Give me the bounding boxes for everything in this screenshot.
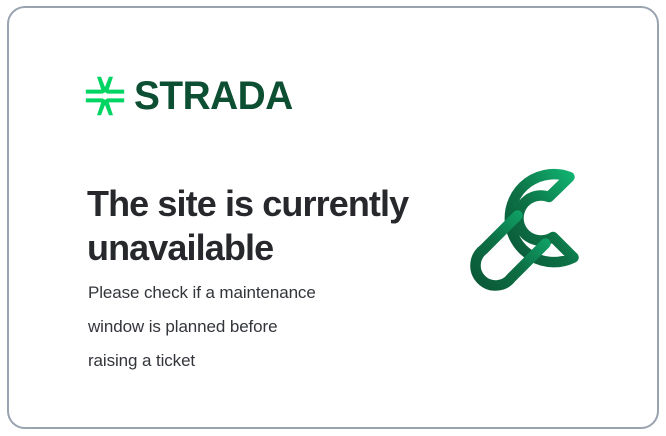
- page-description: Please check if a maintenance window is …: [88, 276, 408, 378]
- wrench-icon: [461, 160, 623, 318]
- description-line: window is planned before: [88, 310, 408, 344]
- description-line: Please check if a maintenance: [88, 276, 408, 310]
- status-card: STRADA The site is currently unavailable…: [7, 6, 659, 429]
- brand-wordmark: STRADA: [134, 76, 293, 116]
- page-title: The site is currently unavailable: [87, 182, 417, 269]
- description-line: raising a ticket: [88, 344, 408, 378]
- brand-logo: STRADA: [85, 76, 298, 116]
- error-page: STRADA The site is currently unavailable…: [0, 0, 666, 436]
- strada-asterisk-icon: [85, 76, 125, 116]
